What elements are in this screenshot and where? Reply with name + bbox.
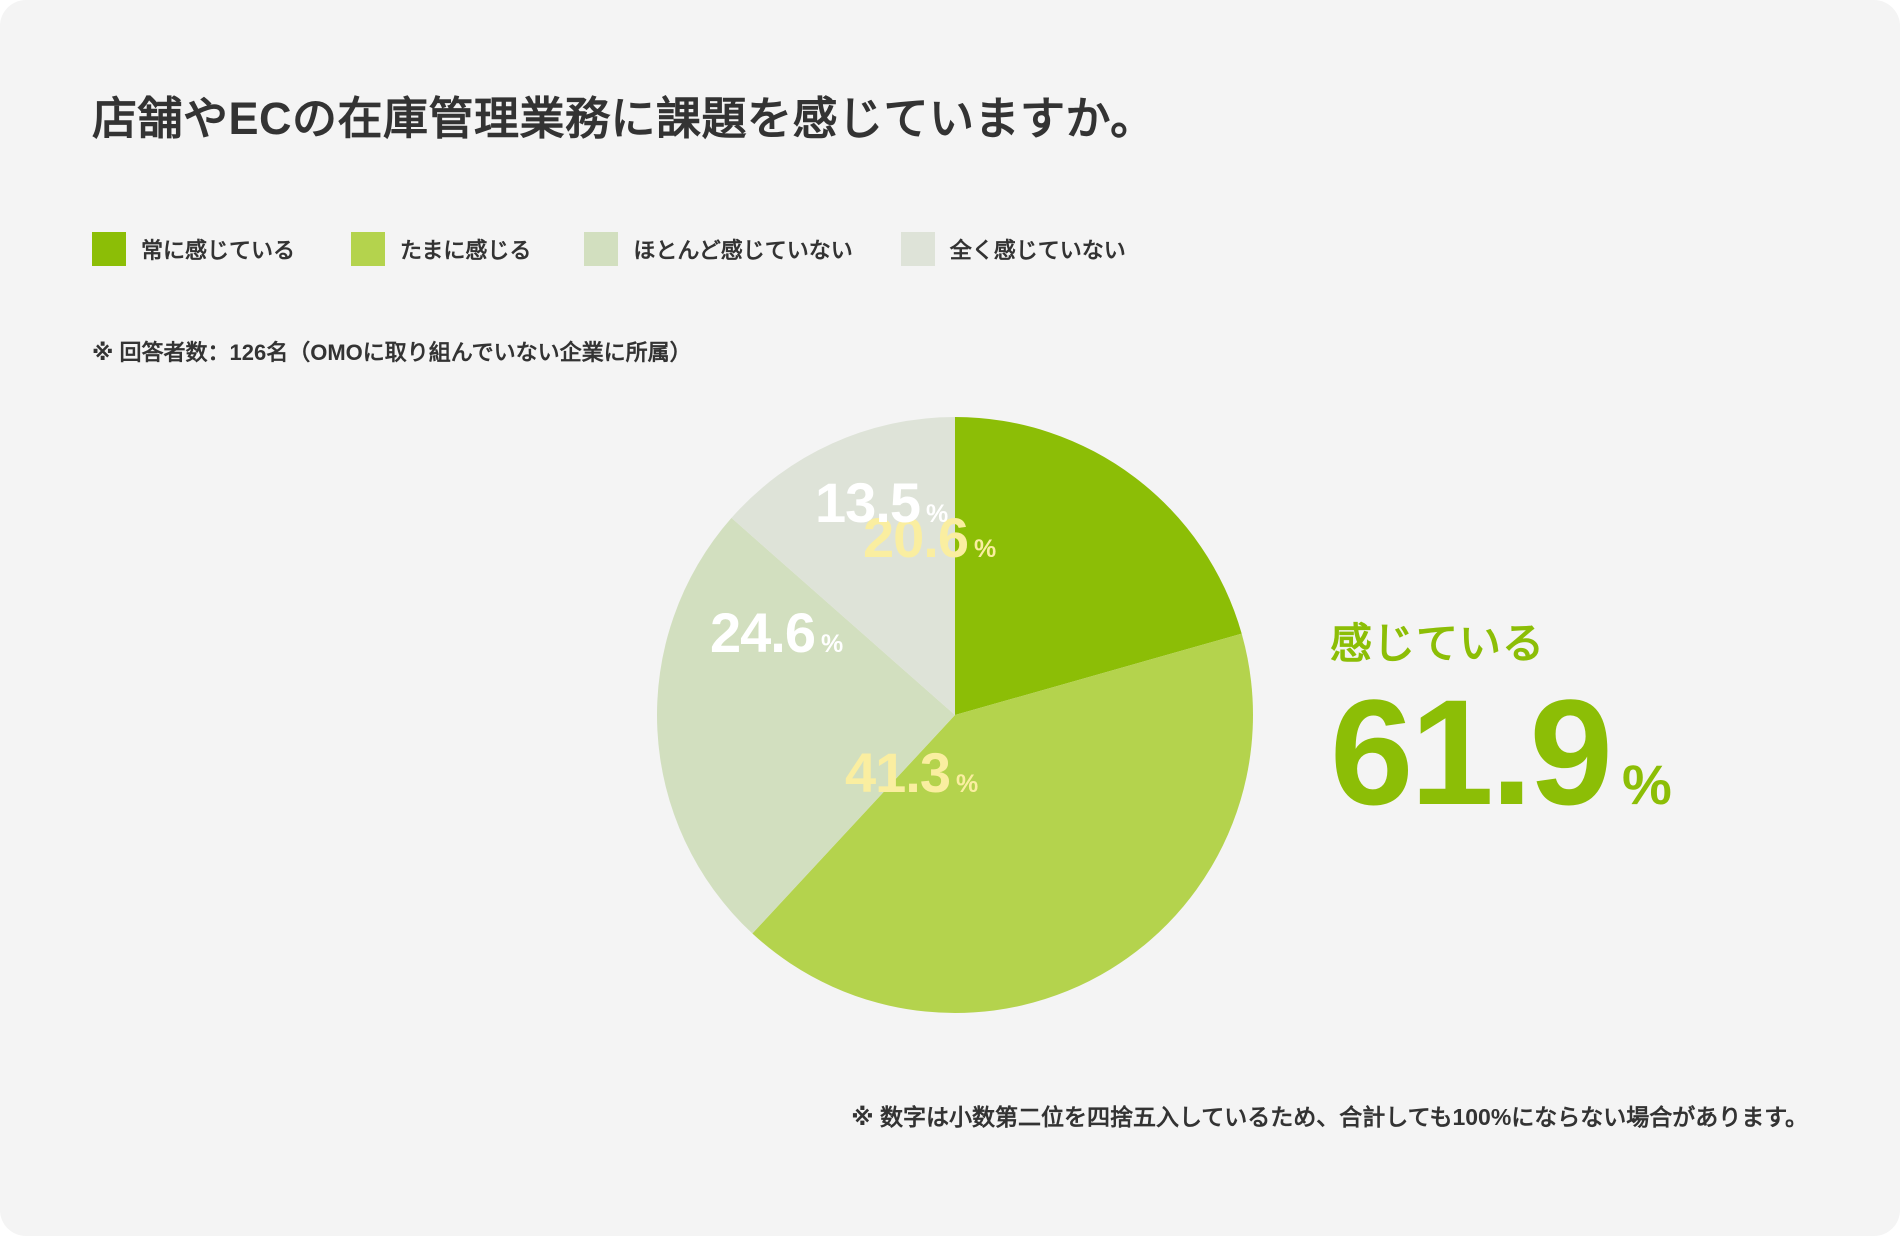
legend-item-always[interactable]: 常に感じている: [92, 232, 295, 266]
pie-label-value: 13.5: [815, 475, 920, 531]
legend-item-label: 全く感じていない: [950, 233, 1126, 265]
page-title: 店舗やECの在庫管理業務に課題を感じていますか。: [92, 82, 1156, 147]
pie-chart-svg: [655, 415, 1255, 1015]
legend-item-label: たまに感じる: [400, 233, 531, 265]
pie-label-unit: %: [956, 772, 978, 797]
pie-label-sometimes: 41.3 %: [845, 745, 978, 801]
pie-label-unit: %: [821, 632, 843, 657]
pie-chart: 20.6 % 41.3 % 24.6 % 13.5 %: [655, 415, 1255, 1015]
highlight-callout: 感じている 61.9 %: [1330, 610, 1672, 827]
highlight-label: 感じている: [1330, 610, 1672, 671]
pie-label-rarely: 24.6 %: [710, 605, 843, 661]
chart-card: 店舗やECの在庫管理業務に課題を感じていますか。 常に感じている たまに感じる …: [0, 0, 1900, 1236]
legend-item-label: ほとんど感じていない: [633, 233, 852, 265]
highlight-value: 61.9 %: [1330, 677, 1672, 827]
chart-legend: 常に感じている たまに感じる ほとんど感じていない 全く感じていない: [92, 232, 1126, 266]
legend-item-label: 常に感じている: [141, 233, 295, 265]
pie-label-unit: %: [926, 502, 948, 527]
pie-label-never: 13.5 %: [815, 475, 948, 531]
rounding-note: ※ 数字は小数第二位を四捨五入しているため、合計しても100%にならない場合があ…: [851, 1098, 1808, 1132]
respondents-note: ※ 回答者数：126名（OMOに取り組んでいない企業に所属）: [92, 335, 692, 367]
highlight-unit: %: [1622, 752, 1672, 817]
legend-item-never[interactable]: 全く感じていない: [901, 232, 1126, 266]
legend-swatch-icon: [92, 232, 126, 266]
pie-label-value: 41.3: [845, 745, 950, 801]
legend-item-sometimes[interactable]: たまに感じる: [351, 232, 531, 266]
highlight-number: 61.9: [1330, 677, 1610, 827]
legend-swatch-icon: [584, 232, 618, 266]
pie-label-unit: %: [974, 537, 996, 562]
legend-swatch-icon: [901, 232, 935, 266]
legend-item-rarely[interactable]: ほとんど感じていない: [584, 232, 852, 266]
legend-swatch-icon: [351, 232, 385, 266]
pie-label-value: 24.6: [710, 605, 815, 661]
